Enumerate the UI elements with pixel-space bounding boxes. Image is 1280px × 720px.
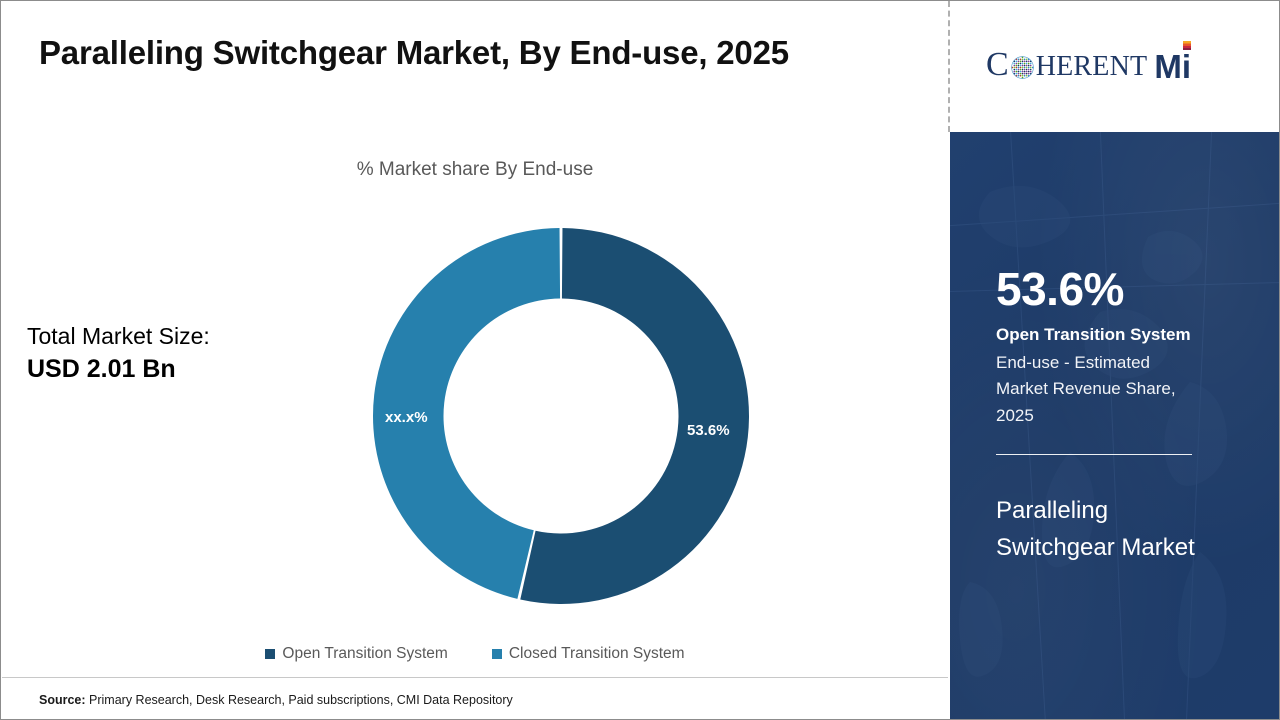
globe-icon (1010, 55, 1035, 80)
panel-divider (996, 454, 1192, 455)
footer-divider (2, 677, 948, 678)
total-market-size-block: Total Market Size: USD 2.01 Bn (27, 321, 327, 387)
logo-letter-m: M (1154, 50, 1182, 83)
chart-subtitle: % Market share By End-use (1, 159, 949, 181)
donut-chart: xx.x% 53.6% (369, 224, 753, 608)
brand-logo[interactable]: C HERENT M i (950, 1, 1280, 132)
total-market-size-value: USD 2.01 Bn (27, 352, 327, 387)
brand-logo-inner: C HERENT M i (986, 45, 1191, 85)
highlight-panel: 53.6% Open Transition System End-use - E… (950, 132, 1280, 719)
logo-letter-i-wrapper: i (1182, 50, 1191, 83)
panel-market-name: Paralleling Switchgear Market (996, 492, 1216, 566)
stat-value: 53.6% (996, 266, 1124, 312)
logo-letter-c: C (986, 48, 1009, 82)
stat-title: Open Transition System (996, 324, 1191, 345)
total-market-size-label: Total Market Size: (27, 321, 327, 352)
legend-item-open-transition-system[interactable]: Open Transition System (265, 645, 447, 663)
color-stripe-icon (1183, 41, 1191, 50)
logo-letter-i: i (1182, 48, 1191, 85)
page-title: Paralleling Switchgear Market, By End-us… (39, 33, 919, 73)
main-content-area: Paralleling Switchgear Market, By End-us… (1, 1, 949, 719)
stat-description: End-use - Estimated Market Revenue Share… (996, 350, 1206, 429)
right-sidebar: C HERENT M i (950, 1, 1280, 719)
logo-wordmark: HERENT (1036, 53, 1148, 81)
legend-swatch-icon (265, 649, 275, 659)
legend-swatch-icon (492, 649, 502, 659)
source-note: Source: Primary Research, Desk Research,… (39, 693, 513, 707)
source-text: Primary Research, Desk Research, Paid su… (86, 693, 513, 707)
logo-mi: M i (1154, 50, 1191, 83)
legend-label: Closed Transition System (509, 645, 685, 663)
chart-legend: Open Transition System Closed Transition… (1, 645, 949, 663)
infographic-root: Paralleling Switchgear Market, By End-us… (0, 0, 1280, 720)
legend-item-closed-transition-system[interactable]: Closed Transition System (492, 645, 685, 663)
legend-label: Open Transition System (282, 645, 447, 663)
donut-slice-label-open-transition-system: 53.6% (687, 422, 730, 439)
source-label: Source: (39, 693, 86, 707)
donut-slice-label-closed-transition-system: xx.x% (385, 409, 428, 426)
